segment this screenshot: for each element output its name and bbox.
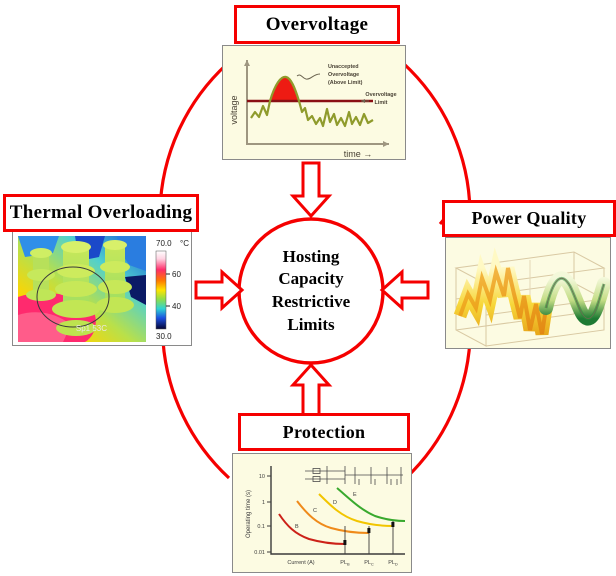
node-label-thermal-overloading[interactable]: Thermal Overloading: [3, 194, 199, 232]
protection-xtick-plc: PL: [364, 560, 371, 566]
node-label-protection[interactable]: Protection: [238, 413, 410, 451]
protection-ytick-1: 1: [262, 500, 265, 506]
protection-ytick-10: 10: [259, 474, 265, 480]
ring-arc-bottom-right: [406, 340, 470, 478]
protection-series-label-b: B: [295, 524, 299, 530]
ring-arc-top-left: [160, 64, 227, 211]
node-image-power-quality: [445, 237, 611, 349]
overvoltage-annot-2: Overvoltage: [328, 72, 359, 78]
center-label: Hosting Capacity Restrictive Limits: [247, 229, 375, 353]
center-line-1: Hosting: [283, 246, 340, 269]
ring-arc-bottom-left: [163, 341, 229, 478]
protection-series-label-e: E: [353, 492, 357, 498]
diagram-canvas: Hosting Capacity Restrictive Limits Over…: [0, 0, 616, 576]
overvoltage-annot-1: Unaccepted: [328, 64, 359, 70]
center-line-3: Restrictive: [272, 291, 350, 314]
arrow-protection-to-center: [293, 365, 329, 418]
overvoltage-xlabel: time →: [344, 149, 373, 159]
thermal-spot-label: Sp1 53C: [76, 324, 107, 333]
arrow-power-to-center: [382, 272, 428, 308]
ring-arc-top-right: [403, 63, 470, 212]
protection-ytick-0-1: 0.1: [257, 524, 265, 530]
node-label-overvoltage[interactable]: Overvoltage: [234, 5, 400, 44]
thermal-scale-unit: °C: [180, 239, 189, 248]
svg-text:PLD: PLD: [388, 560, 398, 567]
protection-xtick-plb: PL: [340, 560, 347, 566]
center-line-2: Capacity: [278, 268, 343, 291]
node-label-power-quality[interactable]: Power Quality: [442, 200, 616, 237]
protection-ytick-0-01: 0.01: [254, 550, 265, 556]
node-image-protection: 10 1 0.1 0.01 Operating time (s) B C D E: [232, 453, 412, 573]
overvoltage-limit-label-1: Overvoltage: [365, 92, 396, 98]
protection-xtick-pld-sub: D: [395, 562, 398, 567]
center-line-4: Limits: [287, 314, 334, 337]
node-image-overvoltage: voltage time → Unaccepted Overvoltage (A…: [222, 45, 406, 160]
protection-series-label-c: C: [313, 508, 317, 514]
overvoltage-ylabel: voltage: [229, 95, 239, 124]
thermal-scale-tick-40: 40: [172, 302, 181, 311]
overvoltage-annot-3: (Above Limit): [328, 80, 363, 86]
protection-xlabel: Current (A): [287, 560, 314, 566]
thermal-scale-min: 30.0: [156, 332, 172, 341]
protection-xtick-pld: PL: [388, 560, 395, 566]
protection-xtick-plb-sub: B: [347, 562, 350, 567]
thermal-scale-tick-60: 60: [172, 270, 181, 279]
protection-ylabel: Operating time (s): [246, 490, 252, 538]
thermal-scale-max: 70.0: [156, 239, 172, 248]
protection-xtick-plc-sub: C: [371, 562, 374, 567]
svg-text:PLB: PLB: [340, 560, 350, 567]
overvoltage-limit-label-2: Limit: [375, 100, 388, 106]
protection-series-label-d: D: [333, 500, 337, 506]
arrow-thermal-to-center: [196, 272, 242, 308]
arrow-overvoltage-to-center: [293, 163, 329, 216]
svg-text:PLC: PLC: [364, 560, 374, 567]
node-image-thermal-overloading: Sp1 53C 70.0 °C 60 40 30.0: [12, 230, 192, 346]
